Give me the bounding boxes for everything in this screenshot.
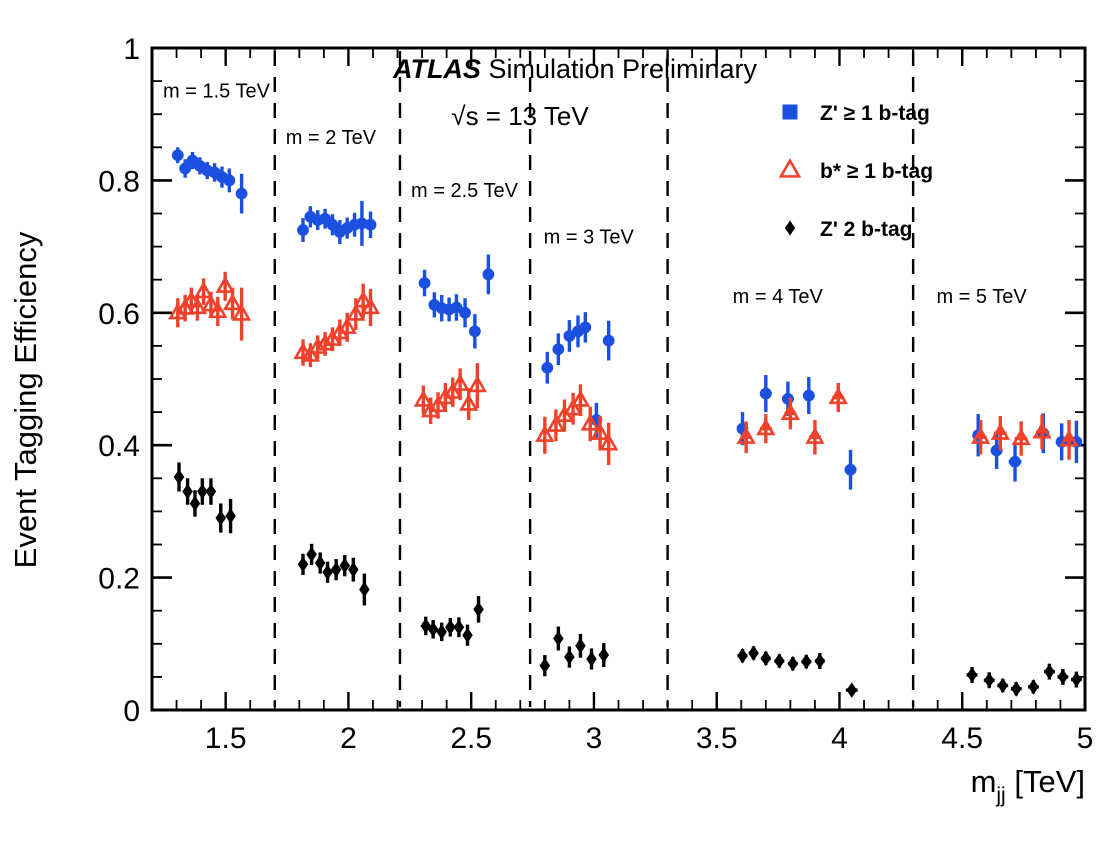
x-tick-label: 5: [1077, 722, 1094, 755]
x-tick-label: 3.5: [696, 722, 738, 755]
chart-canvas: 1.522.533.544.5500.20.40.60.81Event Tagg…: [0, 0, 1100, 850]
legend-label: Z' ≥ 1 b-tag: [820, 102, 930, 125]
x-tick-label: 2: [340, 722, 357, 755]
marker-circle: [845, 464, 857, 476]
legend-label: b* ≥ 1 b-tag: [820, 160, 933, 183]
marker-circle: [803, 390, 815, 402]
y-tick-label: 0.2: [98, 563, 140, 596]
marker-circle: [579, 321, 591, 333]
y-axis-title: Event Tagging Efficiency: [8, 231, 43, 568]
y-tick-label: 0.4: [98, 430, 140, 463]
marker-circle: [603, 335, 615, 347]
cme-subtitle: √s = 13 TeV: [451, 101, 589, 131]
y-tick-label: 0.8: [98, 165, 140, 198]
x-tick-label: 2.5: [450, 722, 492, 755]
marker-circle: [223, 175, 235, 187]
marker-circle: [172, 149, 184, 161]
marker-circle: [1009, 456, 1021, 468]
y-tick-label: 0.6: [98, 298, 140, 331]
marker-circle: [552, 343, 564, 355]
x-tick-label: 4.5: [941, 722, 983, 755]
mass-group-label: m = 2.5 TeV: [411, 180, 519, 202]
marker-circle: [297, 224, 309, 236]
marker-circle: [760, 388, 772, 400]
marker-circle: [469, 325, 481, 337]
marker-circle: [365, 219, 377, 231]
marker-circle: [419, 277, 431, 289]
x-tick-label: 1.5: [205, 722, 247, 755]
mass-group-label: m = 5 TeV: [936, 286, 1027, 308]
x-tick-label: 4: [831, 722, 848, 755]
atlas-title: ATLAS Simulation Preliminary: [392, 54, 758, 84]
y-tick-label: 0: [123, 695, 140, 728]
marker-circle: [459, 307, 471, 319]
mass-group-label: m = 3 TeV: [544, 226, 635, 248]
mass-group-label: m = 2 TeV: [286, 127, 377, 149]
legend-label: Z' 2 b-tag: [820, 218, 913, 241]
marker-circle: [236, 188, 248, 200]
marker-square: [783, 105, 798, 120]
mass-group-label: m = 4 TeV: [733, 286, 824, 308]
marker-circle: [482, 269, 494, 281]
efficiency-scatter-plot: 1.522.533.544.5500.20.40.60.81Event Tagg…: [0, 0, 1100, 850]
mass-group-label: m = 1.5 TeV: [163, 81, 271, 103]
y-tick-label: 1: [123, 33, 140, 66]
marker-circle: [541, 362, 553, 374]
x-tick-label: 3: [586, 722, 603, 755]
